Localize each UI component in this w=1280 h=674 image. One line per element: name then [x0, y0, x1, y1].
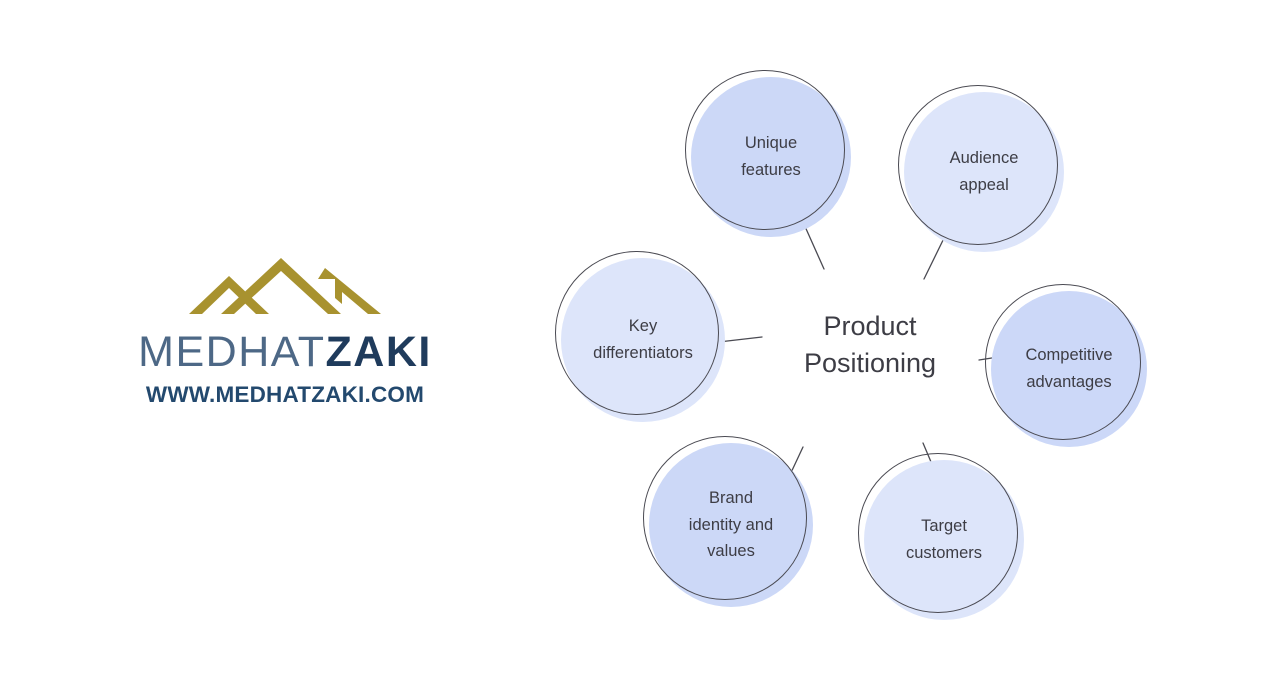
slide-canvas: MEDHATZAKI WWW.MEDHATZAKI.COM Unique fea… — [0, 0, 1280, 674]
node-label: Audience appeal — [904, 92, 1064, 252]
node-target-customers[interactable]: Target customers — [858, 453, 1030, 625]
brand-logo: MEDHATZAKI WWW.MEDHATZAKI.COM — [120, 252, 450, 417]
node-unique-features[interactable]: Unique features — [685, 70, 857, 242]
node-label: Competitive advantages — [991, 291, 1147, 447]
node-brand-identity-and-values[interactable]: Brand identity and values — [643, 436, 819, 612]
node-label: Unique features — [691, 77, 851, 237]
node-label: Key differentiators — [561, 258, 725, 422]
brand-wordmark: MEDHATZAKI — [120, 330, 450, 375]
node-audience-appeal[interactable]: Audience appeal — [898, 85, 1070, 257]
node-label: Target customers — [864, 460, 1024, 620]
brand-name-light: MEDHAT — [138, 328, 325, 376]
node-key-differentiators[interactable]: Key differentiators — [555, 251, 731, 427]
brand-website-url: WWW.MEDHATZAKI.COM — [120, 382, 450, 408]
brand-name-bold: ZAKI — [326, 328, 432, 376]
node-competitive-advantages[interactable]: Competitive advantages — [985, 284, 1153, 452]
diagram-center-title: Product Positioning — [760, 308, 980, 381]
node-label: Brand identity and values — [649, 443, 813, 607]
mountains-icon — [185, 252, 385, 326]
product-positioning-diagram: Unique features Audience appeal Competit… — [530, 40, 1210, 650]
